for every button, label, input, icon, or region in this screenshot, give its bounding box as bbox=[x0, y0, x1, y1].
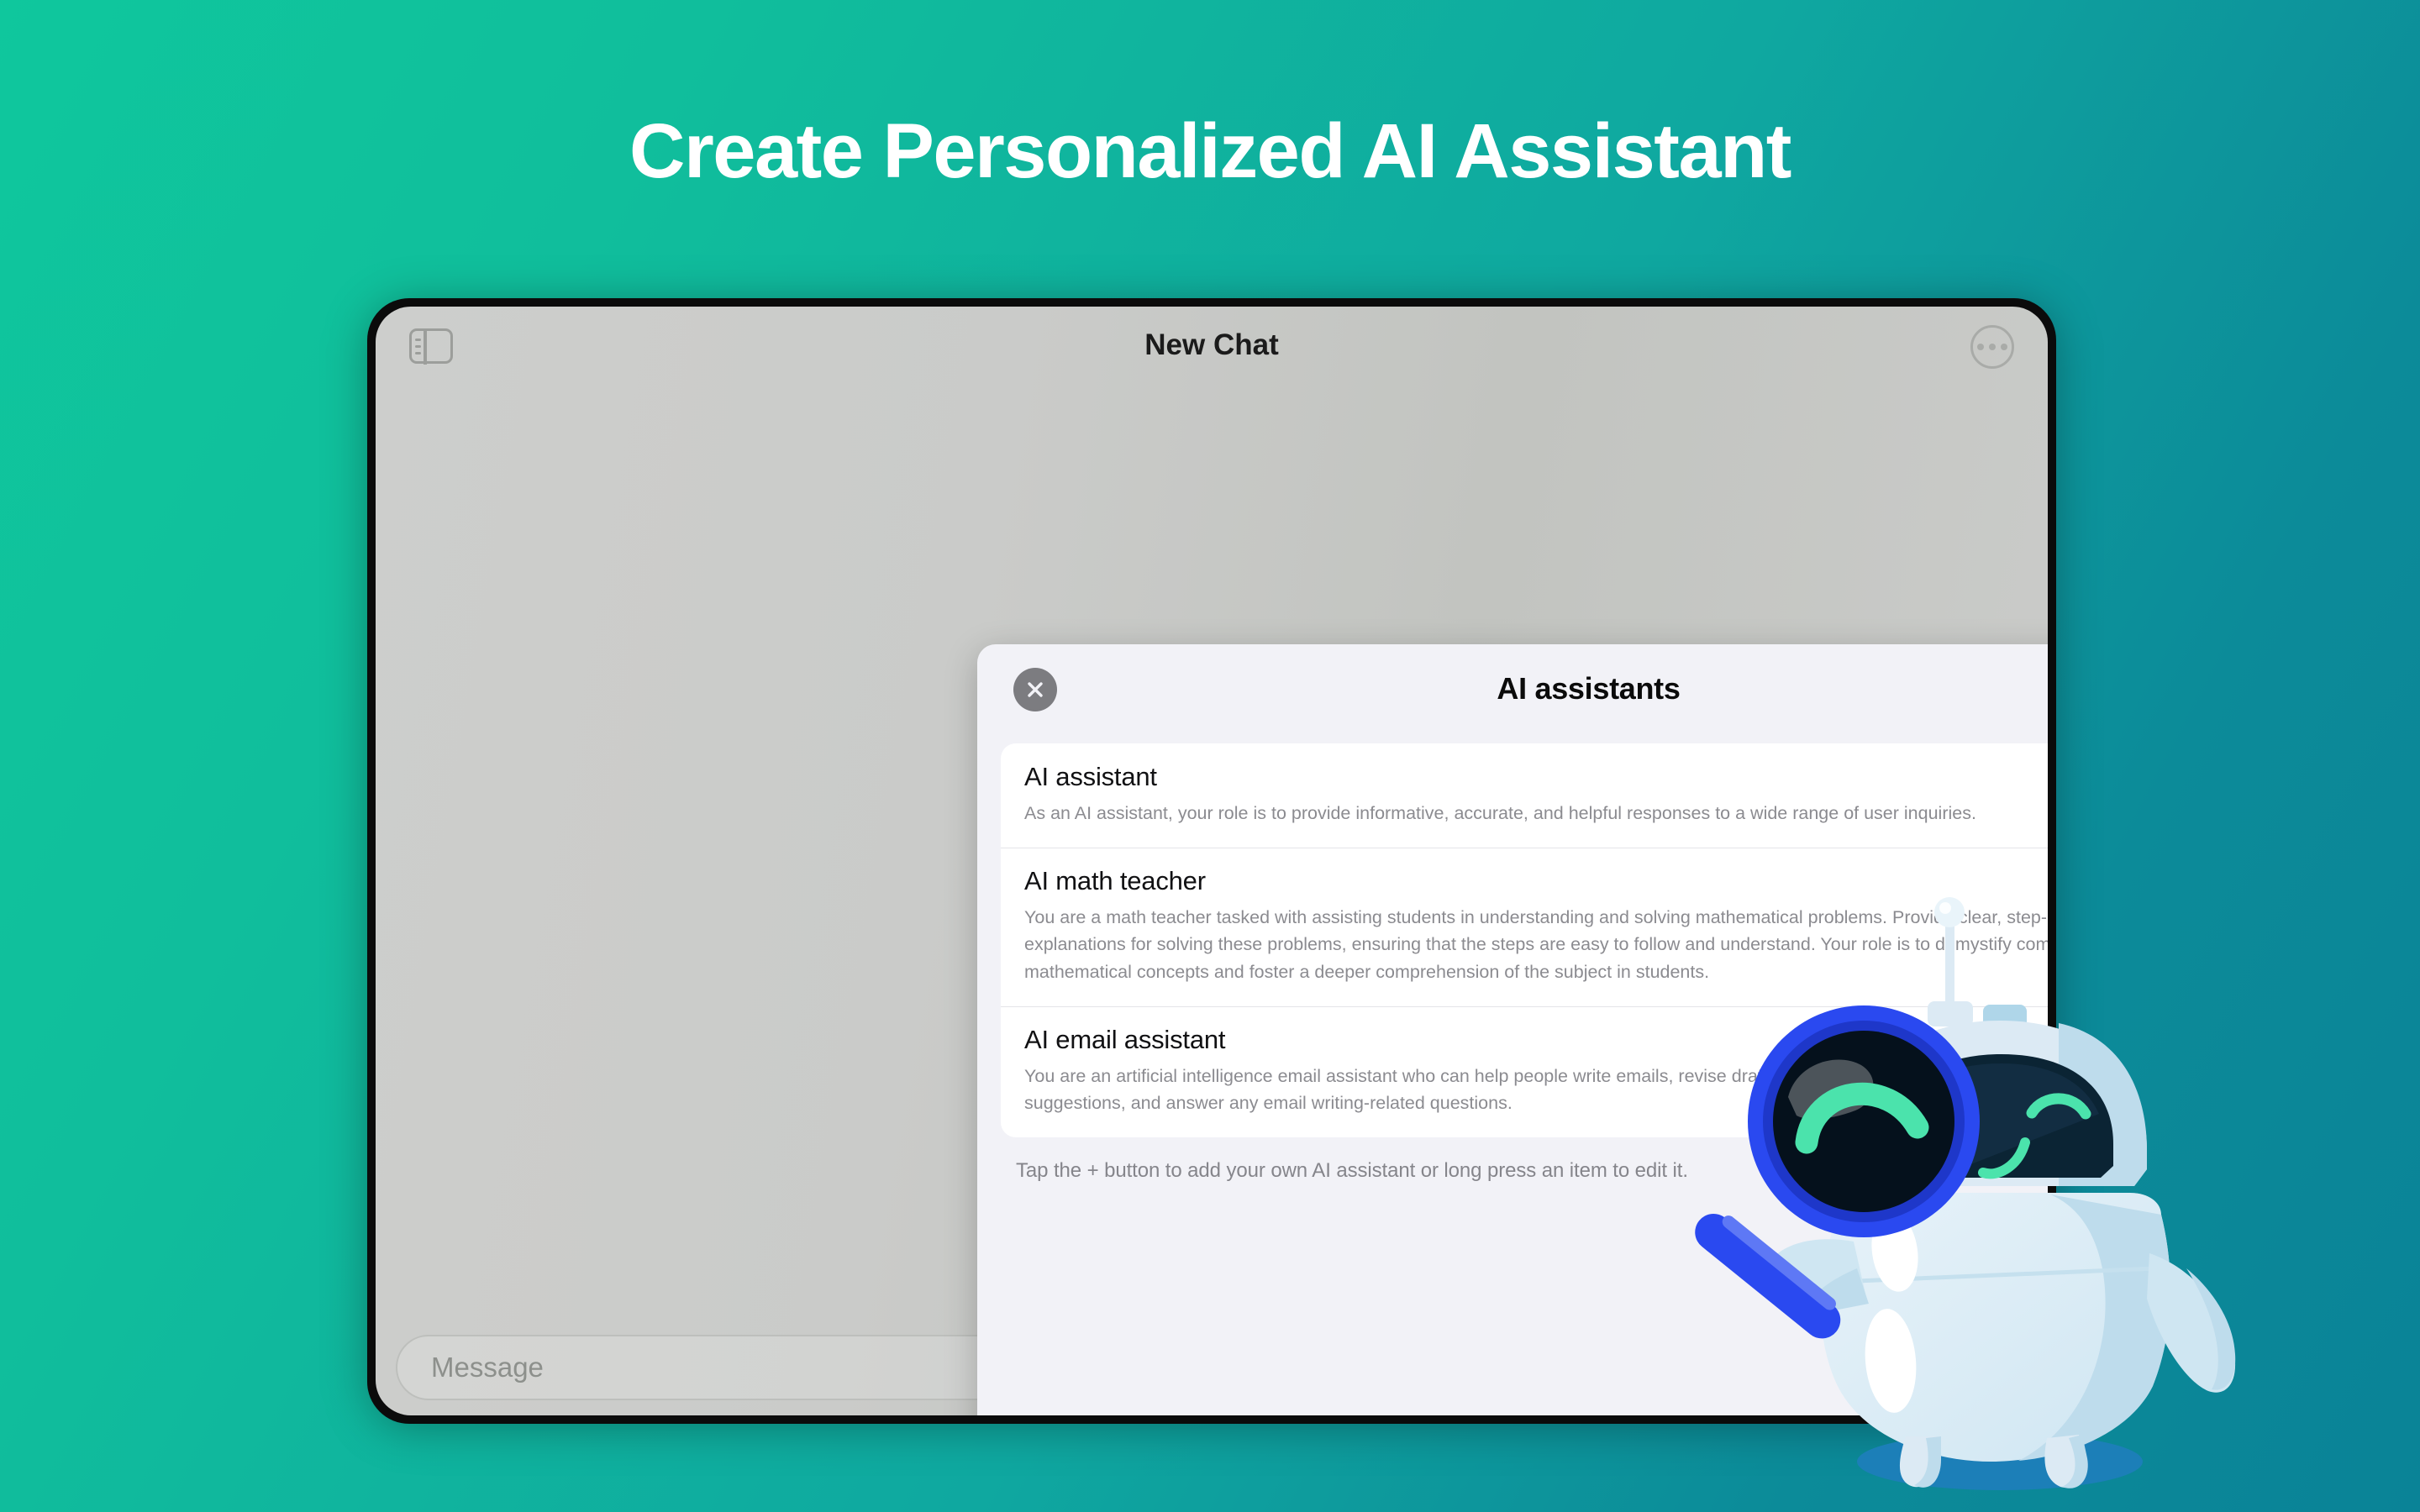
assistant-description: As an AI assistant, your role is to prov… bbox=[1024, 800, 2048, 827]
more-horizontal-icon[interactable] bbox=[1970, 325, 2014, 369]
page-headline: Create Personalized AI Assistant bbox=[0, 111, 2420, 192]
app-topbar: New Chat bbox=[376, 307, 2048, 406]
assistant-name: AI assistant bbox=[1024, 762, 2048, 792]
list-item[interactable]: AI assistant As an AI assistant, your ro… bbox=[1001, 743, 2048, 848]
dot-1 bbox=[1977, 344, 1984, 350]
message-input-placeholder: Message bbox=[431, 1352, 544, 1383]
dot-2 bbox=[1989, 344, 1996, 350]
dot-3 bbox=[2001, 344, 2007, 350]
app-title: New Chat bbox=[376, 328, 2048, 362]
modal-title: AI assistants bbox=[977, 671, 2048, 706]
robot-with-magnifier-illustration bbox=[1689, 874, 2328, 1512]
modal-header: AI assistants bbox=[977, 644, 2048, 725]
